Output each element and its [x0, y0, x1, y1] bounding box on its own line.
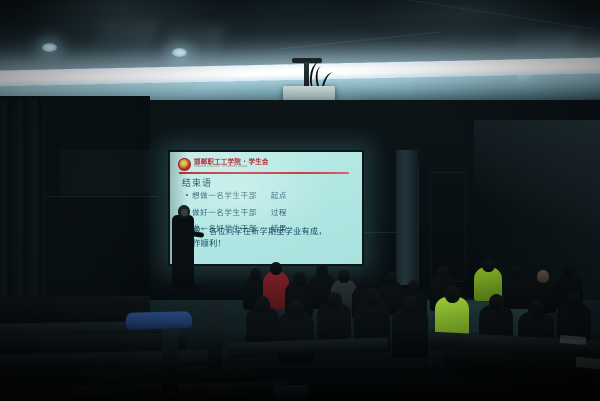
projection-screen: 邯郸职工工学院 · 学生会 HANDAN COLLEGE · STUDENTS … [170, 152, 362, 264]
audience-person-body [504, 275, 530, 309]
list-item: 想做一名学生干部 起点 [186, 190, 351, 201]
bullet-keyword: 起点 [271, 190, 287, 201]
bullet-text: 想做一名学生干部 [192, 190, 257, 201]
audience-person-head [385, 272, 397, 285]
audience-person-head [567, 292, 582, 309]
projector-mount [304, 62, 309, 88]
audience-person-head [511, 266, 523, 279]
audience-person-head [402, 296, 418, 314]
audience-person-head [445, 286, 460, 303]
wall-panel-edge [364, 232, 398, 233]
lecture-hall-photo: 邯郸职工工学院 · 学生会 HANDAN COLLEGE · STUDENTS … [0, 0, 600, 401]
wall-panel-edge [46, 196, 158, 197]
door-panel [430, 172, 466, 282]
audience-person-head [563, 264, 575, 277]
audience-person-head [482, 258, 495, 272]
audience-person-head [288, 300, 304, 318]
bullet-dot-icon [186, 194, 188, 196]
blue-bag-on-bench [126, 311, 192, 330]
presenter-standing [172, 215, 194, 287]
paper-sheet [560, 335, 586, 345]
window-curtain [0, 100, 46, 315]
closing-line-2: 工作顺利！ [184, 238, 356, 250]
slide-closing-text: 预祝：各位同学在新学期里学业有成， 工作顺利！ [184, 226, 356, 249]
university-crest-icon [178, 158, 191, 171]
audience-person-head [537, 270, 549, 283]
audience-person-head [250, 268, 261, 280]
presenter-face [181, 209, 188, 216]
audience-person-head [316, 264, 328, 277]
list-item: 做好一名学生干部 过程 [186, 207, 351, 218]
audience-person-head [293, 272, 306, 286]
organization-name-en: HANDAN COLLEGE · STUDENTS UNION [194, 166, 269, 169]
bullet-text: 做好一名学生干部 [192, 207, 257, 218]
slide-header-rule [179, 172, 349, 174]
audience-person-head [489, 294, 504, 311]
audience-person-head [270, 262, 282, 275]
open-laptop [274, 385, 308, 399]
closing-line-1: 预祝：各位同学在新学期里学业有成， [184, 226, 356, 238]
audience-person-head [408, 280, 420, 293]
slide-logo-header: 邯郸职工工学院 · 学生会 HANDAN COLLEGE · STUDENTS … [178, 156, 354, 172]
audience-person-head [255, 296, 270, 313]
audience-person-head [364, 288, 380, 306]
audience-person-head [437, 266, 449, 279]
slide-title: 结束语 [182, 176, 212, 189]
wall-pillar [396, 150, 418, 285]
audience-person-head [327, 292, 342, 309]
wall-panel [60, 150, 150, 194]
audience-person-body [392, 308, 428, 358]
bullet-keyword: 过程 [271, 207, 287, 218]
desk-side-panel [208, 300, 222, 369]
audience-person-head [338, 270, 350, 283]
audience-person-head [528, 300, 544, 318]
